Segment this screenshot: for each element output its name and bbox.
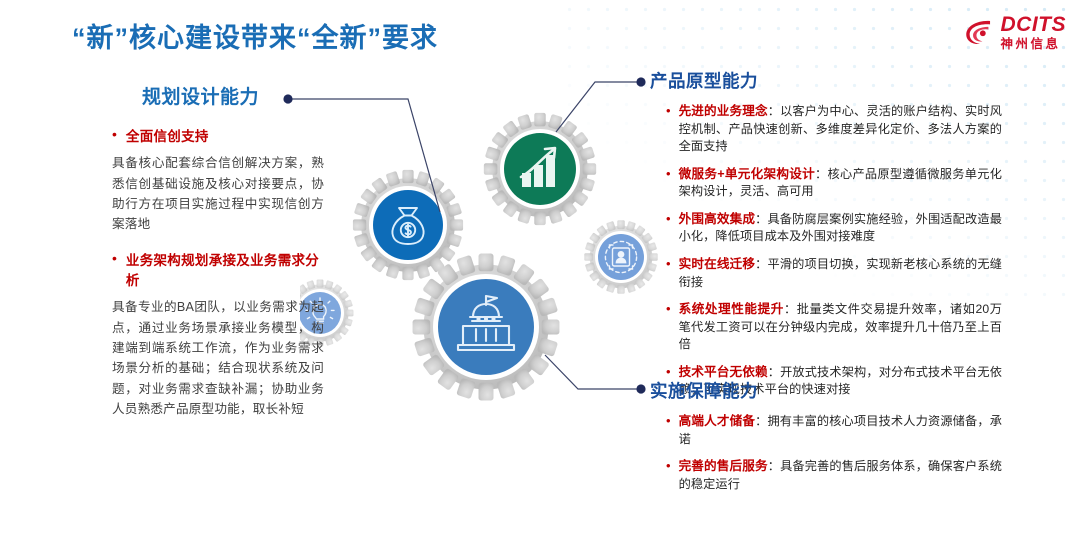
dcits-logo: DCITS 神州信息 (962, 14, 1067, 51)
left-capability-section: 规划设计能力 • 全面信创支持 具备核心配套综合信创解决方案，熟悉信创基础设施及… (112, 82, 324, 436)
left-bullet-2: • 业务架构规划承接及业务需求分析 (112, 251, 324, 292)
left-bullet-1: • 全面信创支持 (112, 127, 324, 147)
bullet-dot-icon: • (666, 300, 671, 354)
gear-bank (413, 254, 560, 401)
dcits-logo-mark-icon (962, 15, 996, 49)
bullet-dot-icon: • (666, 165, 671, 201)
bullet-dot-icon: • (666, 102, 671, 156)
bullet-dot-icon: • (112, 251, 117, 292)
right-top-bullet-1: • 先进的业务理念：以客户为中心、灵活的账户结构、实时风控机制、产品快速创新、多… (650, 102, 1002, 156)
right-bottom-bullet-list: • 高端人才储备：拥有丰富的核心项目技术人力资源储备，承诺 • 完善的售后服务：… (650, 412, 1002, 493)
right-top-bullet-5-key: 系统处理性能提升 (679, 302, 784, 316)
right-bottom-bullet-1: • 高端人才储备：拥有丰富的核心项目技术人力资源储备，承诺 (650, 412, 1002, 448)
right-top-bullet-4-key: 实时在线迁移 (679, 257, 756, 271)
bullet-dot-icon: • (666, 210, 671, 246)
right-top-section-heading: 产品原型能力 (650, 68, 1002, 93)
right-bottom-bullet-1-key: 高端人才储备 (679, 414, 756, 428)
left-bullet-1-body: 具备核心配套综合信创解决方案，熟悉信创基础设施及核心对接要点，协助行方在项目实施… (112, 153, 324, 235)
page-title: “新”核心建设带来“全新”要求 (72, 16, 438, 55)
right-top-bullet-6-key: 技术平台无依赖 (679, 365, 768, 379)
left-bullet-1-title: 全面信创支持 (126, 127, 209, 147)
left-section-heading: 规划设计能力 (142, 82, 324, 109)
right-bottom-section-heading: 实施保障能力 (650, 378, 1002, 403)
right-top-bullet-4: • 实时在线迁移：平滑的项目切换，实现新老核心系统的无缝衔接 (650, 255, 1002, 291)
gear-user-badge (584, 220, 657, 293)
gear-growth-chart (484, 113, 596, 225)
right-top-bullet-3-key: 外围高效集成 (679, 212, 756, 226)
bullet-dot-icon: • (666, 255, 671, 291)
bullet-dot-icon: • (112, 127, 117, 147)
logo-text-en: DCITS (1001, 14, 1067, 35)
right-bottom-bullet-2-key: 完善的售后服务 (679, 459, 768, 473)
gear-money-bag (353, 170, 463, 280)
right-top-bullet-2: • 微服务+单元化架构设计：核心产品原型遵循微服务单元化架构设计，灵活、高可用 (650, 165, 1002, 201)
right-bottom-bullet-2: • 完善的售后服务：具备完善的售后服务体系，确保客户系统的稳定运行 (650, 457, 1002, 493)
right-top-bullet-2-key: 微服务+单元化架构设计 (679, 167, 815, 181)
gear-cluster-diagram (300, 95, 660, 435)
bullet-dot-icon: • (666, 457, 671, 493)
right-top-capability-section: 产品原型能力 • 先进的业务理念：以客户为中心、灵活的账户结构、实时风控机制、产… (650, 68, 1002, 408)
right-top-bullet-list: • 先进的业务理念：以客户为中心、灵活的账户结构、实时风控机制、产品快速创新、多… (650, 102, 1002, 399)
right-bottom-capability-section: 实施保障能力 • 高端人才储备：拥有丰富的核心项目技术人力资源储备，承诺 • 完… (650, 378, 1002, 502)
right-top-bullet-3: • 外围高效集成：具备防腐层案例实施经验，外围适配改造最小化，降低项目成本及外围… (650, 210, 1002, 246)
right-top-bullet-5: • 系统处理性能提升：批量类文件交易提升效率，诸如20万笔代发工资可以在分钟级内… (650, 300, 1002, 354)
bullet-dot-icon: • (666, 412, 671, 448)
logo-text-cn: 神州信息 (1001, 38, 1067, 51)
left-bullet-2-body: 具备专业的BA团队，以业务需求为起点，通过业务场景承接业务模型，构建端到端系统工… (112, 297, 324, 419)
connector-prototype-dot (636, 77, 645, 86)
right-top-bullet-1-key: 先进的业务理念 (679, 104, 768, 118)
left-bullet-2-title: 业务架构规划承接及业务需求分析 (126, 251, 324, 292)
